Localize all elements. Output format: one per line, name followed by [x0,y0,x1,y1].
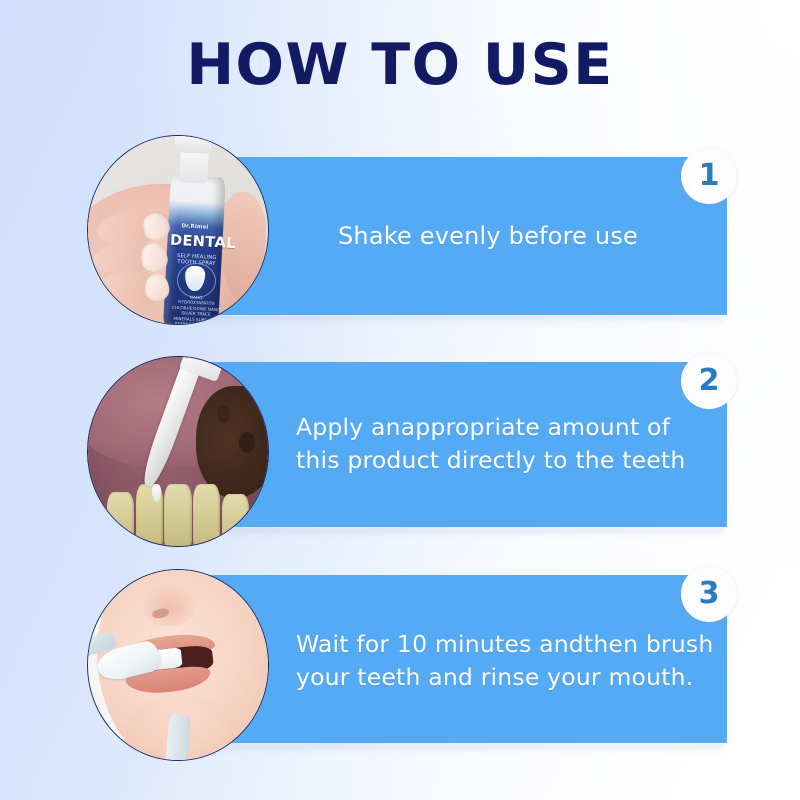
step-number-1: 1 [681,148,737,204]
step-number-2: 2 [681,353,737,409]
step-photo-3 [87,569,269,761]
spray-bottle-cap [175,135,213,154]
how-to-use-poster: HOW TO USE 1 Shake evenly before use Dr.… [0,0,800,800]
tooth [164,484,191,547]
photo-2-scene [87,356,269,547]
step-row-3: 3 Wait for 10 minutes andthen brush your… [0,545,800,745]
step-row-2: 2 Apply anappropriate amount of this pro… [0,336,800,536]
tooth [87,503,106,547]
photo-3-scene [87,569,269,761]
tooth [222,494,249,548]
step-photo-2 [87,356,269,547]
nose [141,584,196,627]
tooth [250,504,269,547]
step-caption-1: Shake evenly before use [338,220,638,253]
lower-teeth-row [87,484,269,547]
tooth [107,492,134,547]
tooth-stain-2 [217,405,230,422]
page-title: HOW TO USE [0,34,800,97]
photo-1-scene: Dr.Rimei DENTAL SELF HEALING TOOTH SPRAY… [87,135,269,325]
toothbrush-handle [164,715,191,761]
tooth [193,484,220,547]
step-caption-3: Wait for 10 minutes andthen brush your t… [296,628,713,694]
step-photo-1: Dr.Rimei DENTAL SELF HEALING TOOTH SPRAY… [87,135,269,325]
mouth-shadow [196,386,269,498]
step-caption-2: Apply anappropriate amount of this produ… [296,411,685,477]
bottle-ingredients-text: NANO-HYDROXYAPATITE CHLORHEXIDINE NANO S… [170,294,222,325]
step-row-1: 1 Shake evenly before use Dr.Rimei DENTA… [0,130,800,330]
step-number-3: 3 [681,566,737,622]
bottle-product-name: DENTAL [169,232,223,251]
